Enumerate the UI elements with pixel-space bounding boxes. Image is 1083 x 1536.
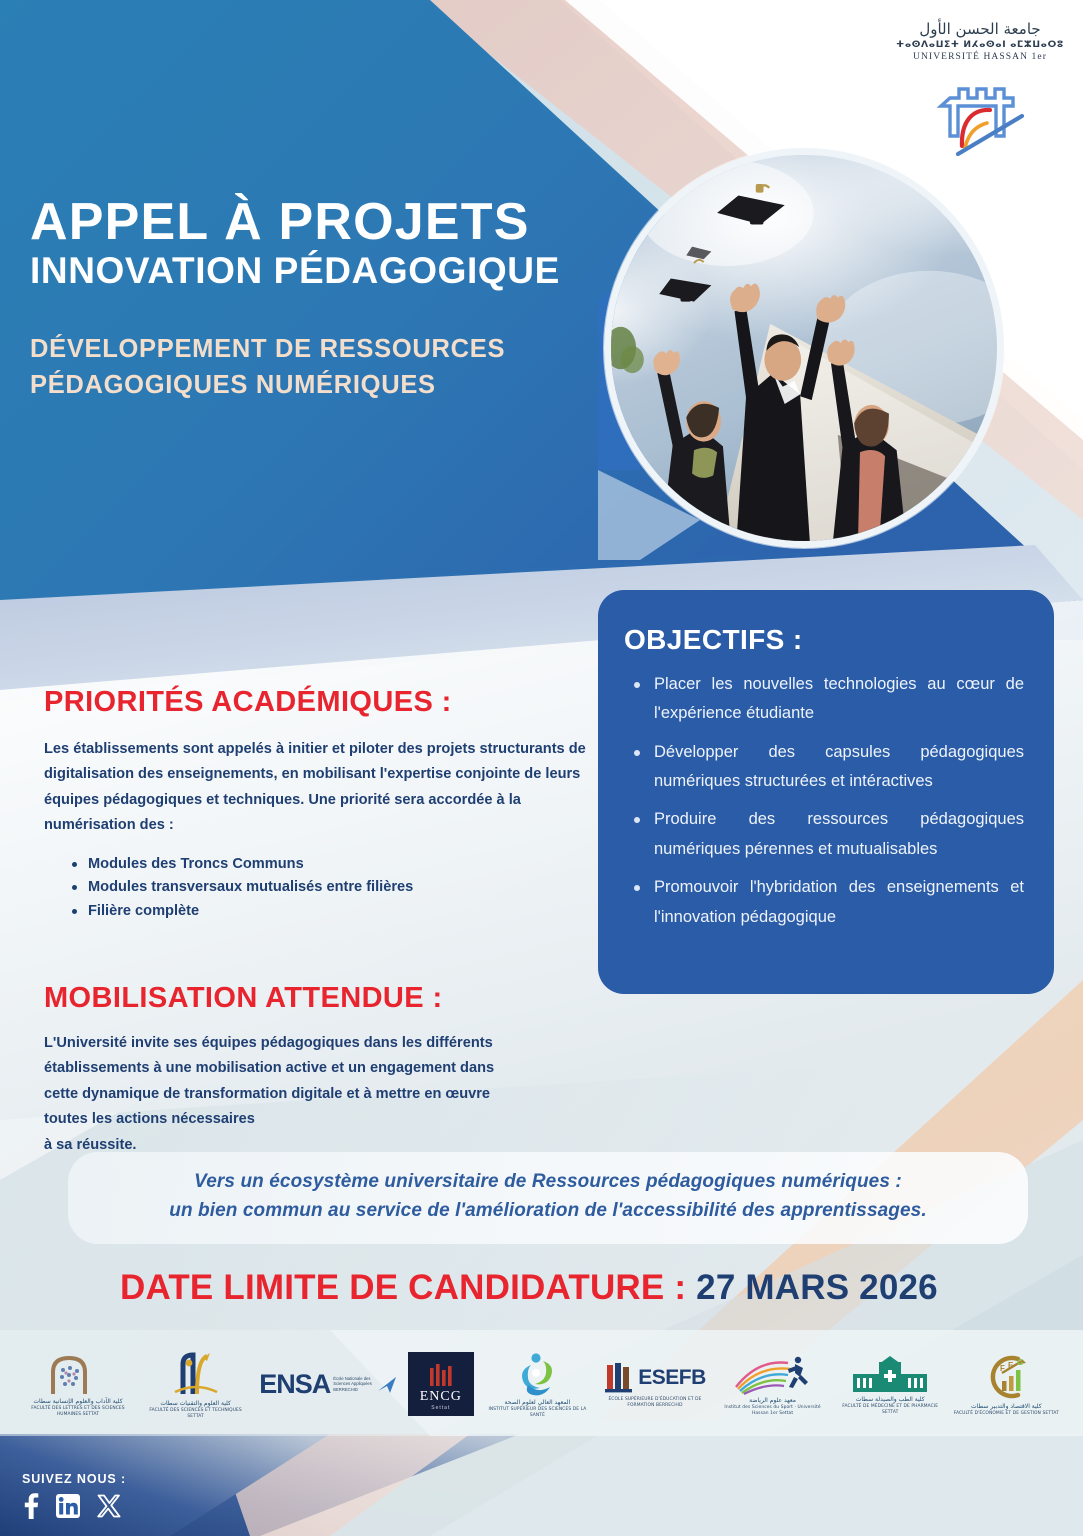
objectives-list: Placer les nouvelles technologies au cœu…	[624, 670, 1028, 932]
logo-caption: معهد علوم الرياضة Institut des Sciences …	[719, 1397, 827, 1417]
mobilisation-paragraph: L'Université invite ses équipes pédagogi…	[44, 1031, 614, 1158]
mobilisation-line-3: cette dynamique de transformation digita…	[44, 1082, 614, 1107]
social-icon-row	[22, 1493, 126, 1519]
priorities-list: Modules des Troncs Communs Modules trans…	[44, 853, 604, 924]
priorities-paragraph: Les établissements sont appelés à initie…	[44, 737, 604, 839]
logo-caption-fr: ÉCOLE SUPÉRIEURE D'ÉDUCATION ET DE FORMA…	[608, 1397, 701, 1408]
priorities-heading: PRIORITÉS ACADÉMIQUES :	[44, 686, 604, 719]
hero-theme-line-1: DÉVELOPPEMENT DE RESSOURCES	[30, 333, 560, 367]
svg-text:G: G	[1017, 1358, 1023, 1367]
encg-box-icon: ENCG Settat	[408, 1352, 474, 1416]
esefb-books-icon: ESEFB	[604, 1361, 706, 1395]
list-item: Développer des capsules pédagogiques num…	[630, 738, 1024, 797]
logo-caption-fr: FACULTÉ DES LETTRES ET DES SCIENCES HUMA…	[31, 1406, 124, 1417]
isss-logo: المعهد العالي لعلوم الصحة INSTITUT SUPÉR…	[483, 1351, 591, 1419]
follow-us-label: SUIVEZ NOUS :	[22, 1472, 126, 1486]
tagline-line-2: un bien commun au service de l'améliorat…	[90, 1197, 1006, 1226]
logo-caption: ÉCOLE SUPÉRIEURE D'ÉDUCATION ET DE FORMA…	[601, 1397, 709, 1409]
tagline-banner: Vers un écosystème universitaire de Ress…	[68, 1152, 1028, 1244]
sport-runner-icon	[732, 1353, 814, 1395]
logo-caption-fr: FACULTÉ D'ÉCONOMIE ET DE GESTION SETTAT	[954, 1411, 1059, 1416]
university-name-french: UNIVERSITÉ HASSAN 1er	[895, 52, 1065, 62]
objectives-heading: OBJECTIFS :	[624, 624, 1028, 656]
logo-caption-fr: FACULTÉ DE MÉDECINE ET DE PHARMACIE SETT…	[842, 1404, 938, 1415]
hassan-1-crown-icon	[895, 68, 1065, 160]
list-item: Promouvoir l'hybridation des enseignemen…	[630, 873, 1024, 932]
feg-settat-logo: F E G كلية الاقتصاد والتدبير سطات FACULT…	[954, 1353, 1059, 1417]
deadline-line: DATE LIMITE DE CANDIDATURE : 27 MARS 202…	[120, 1268, 938, 1308]
svg-text:F: F	[1000, 1364, 1005, 1373]
logo-caption: كلية الآداب والعلوم الإنسانية سطات FACUL…	[24, 1398, 132, 1418]
mobilisation-line-2: établissements à une mobilisation active…	[44, 1056, 614, 1081]
logo-caption-fr: FACULTÉ DES SCIENCES ET TECHNIQUES SETTA…	[149, 1408, 241, 1419]
flsh-arch-icon	[47, 1352, 109, 1396]
logo-caption: كلية الاقتصاد والتدبير سطات FACULTÉ D'ÉC…	[954, 1403, 1059, 1417]
tagline-line-1: Vers un écosystème universitaire de Ress…	[90, 1168, 1006, 1197]
mobilisation-line-1: L'Université invite ses équipes pédagogi…	[44, 1031, 614, 1056]
fst-torch-icon	[169, 1350, 223, 1398]
university-name-arabic: جامعة الحسن الأول	[895, 22, 1065, 38]
ensa-acronym: ENSA	[259, 1369, 330, 1400]
ensa-wordmark-icon: ENSA École Nationale des Sciences Appliq…	[259, 1369, 398, 1400]
university-name-tifinagh: ⵜⴰⵙⴷⴰⵡⵉⵜ ⵍⵃⴰⵙⴰⵏ ⴰⵎⵣⵡⴰⵔⵓ	[893, 40, 1066, 50]
priorities-section: PRIORITÉS ACADÉMIQUES : Les établissemen…	[44, 686, 604, 923]
encg-settat-logo: ENCG Settat	[408, 1352, 474, 1418]
list-item: Placer les nouvelles technologies au cœu…	[630, 670, 1024, 729]
ensa-berrechid-logo: ENSA École Nationale des Sciences Appliq…	[259, 1369, 398, 1402]
list-item: Produire des ressources pédagogiques num…	[630, 805, 1024, 864]
ensa-fullname: École Nationale des Sciences Appliquées …	[333, 1376, 373, 1392]
list-item: Modules transversaux mutualisés entre fi…	[72, 876, 604, 900]
encg-city: Settat	[431, 1405, 450, 1411]
esefb-acronym: ESEFB	[638, 1366, 706, 1390]
graduation-photo	[604, 148, 1004, 548]
mobilisation-line-4: toutes les actions nécessaires	[44, 1107, 614, 1132]
svg-text:E: E	[1008, 1361, 1014, 1370]
footer-social: SUIVEZ NOUS :	[22, 1472, 126, 1519]
poster: جامعة الحسن الأول ⵜⴰⵙⴷⴰⵡⵉⵜ ⵍⵃⴰⵙⴰⵏ ⴰⵎⵣⵡⴰⵔ…	[0, 0, 1083, 1536]
encg-acronym: ENCG	[420, 1389, 462, 1405]
linkedin-icon[interactable]	[56, 1494, 80, 1518]
partner-logo-strip: كلية الآداب والعلوم الإنسانية سطات FACUL…	[0, 1336, 1083, 1434]
university-logo: جامعة الحسن الأول ⵜⴰⵙⴷⴰⵡⵉⵜ ⵍⵃⴰⵙⴰⵏ ⴰⵎⵣⵡⴰⵔ…	[895, 22, 1065, 160]
logo-caption-ar: كلية العلوم والتقنيات سطات	[142, 1400, 250, 1408]
institut-sciences-du-sport-logo: معهد علوم الرياضة Institut des Sciences …	[719, 1353, 827, 1417]
list-item: Filière complète	[72, 900, 604, 924]
esefb-logo: ESEFB ÉCOLE SUPÉRIEURE D'ÉDUCATION ET DE…	[601, 1361, 709, 1409]
logo-caption-fr: INSTITUT SUPÉRIEUR DES SCIENCES DE LA SA…	[488, 1407, 586, 1418]
mobilisation-section: MOBILISATION ATTENDUE : L'Université inv…	[44, 982, 614, 1158]
logo-caption-ar: كلية الاقتصاد والتدبير سطات	[954, 1403, 1059, 1411]
ensa-arrow-icon	[376, 1373, 398, 1395]
hero-titles: APPEL À PROJETS INNOVATION PÉDAGOGIQUE D…	[30, 196, 560, 402]
flsh-settat-logo: كلية الآداب والعلوم الإنسانية سطات FACUL…	[24, 1352, 132, 1418]
deadline-label: DATE LIMITE DE CANDIDATURE :	[120, 1268, 686, 1307]
fmp-settat-logo: كلية الطب والصيدلة سطات FACULTÉ DE MÉDEC…	[836, 1354, 944, 1416]
logo-caption-ar: كلية الآداب والعلوم الإنسانية سطات	[24, 1398, 132, 1406]
logo-caption-ar: المعهد العالي لعلوم الصحة	[483, 1399, 591, 1407]
logo-caption-ar: كلية الطب والصيدلة سطات	[836, 1396, 944, 1404]
isss-figure-icon	[511, 1351, 563, 1397]
feg-crescent-icon: F E G	[978, 1353, 1034, 1401]
page-title: APPEL À PROJETS	[30, 196, 560, 249]
list-item: Modules des Troncs Communs	[72, 853, 604, 877]
facebook-icon[interactable]	[22, 1493, 39, 1519]
logo-caption-ar: معهد علوم الرياضة	[719, 1397, 827, 1405]
page-subtitle: INNOVATION PÉDAGOGIQUE	[30, 252, 560, 291]
logo-caption: المعهد العالي لعلوم الصحة INSTITUT SUPÉR…	[483, 1399, 591, 1419]
fst-settat-logo: كلية العلوم والتقنيات سطات FACULTÉ DES S…	[142, 1350, 250, 1420]
objectives-panel: OBJECTIFS : Placer les nouvelles technol…	[598, 590, 1054, 994]
hero-theme-line-2: PÉDAGOGIQUES NUMÉRIQUES	[30, 369, 560, 403]
fmp-building-icon	[851, 1354, 929, 1394]
logo-caption: كلية العلوم والتقنيات سطات FACULTÉ DES S…	[142, 1400, 250, 1420]
logo-caption-fr: Institut des Sciences du Sport · Univers…	[724, 1405, 820, 1416]
mobilisation-heading: MOBILISATION ATTENDUE :	[44, 982, 614, 1015]
logo-caption: كلية الطب والصيدلة سطات FACULTÉ DE MÉDEC…	[836, 1396, 944, 1416]
deadline-date: 27 MARS 2026	[696, 1268, 938, 1307]
x-twitter-icon[interactable]	[97, 1494, 121, 1518]
